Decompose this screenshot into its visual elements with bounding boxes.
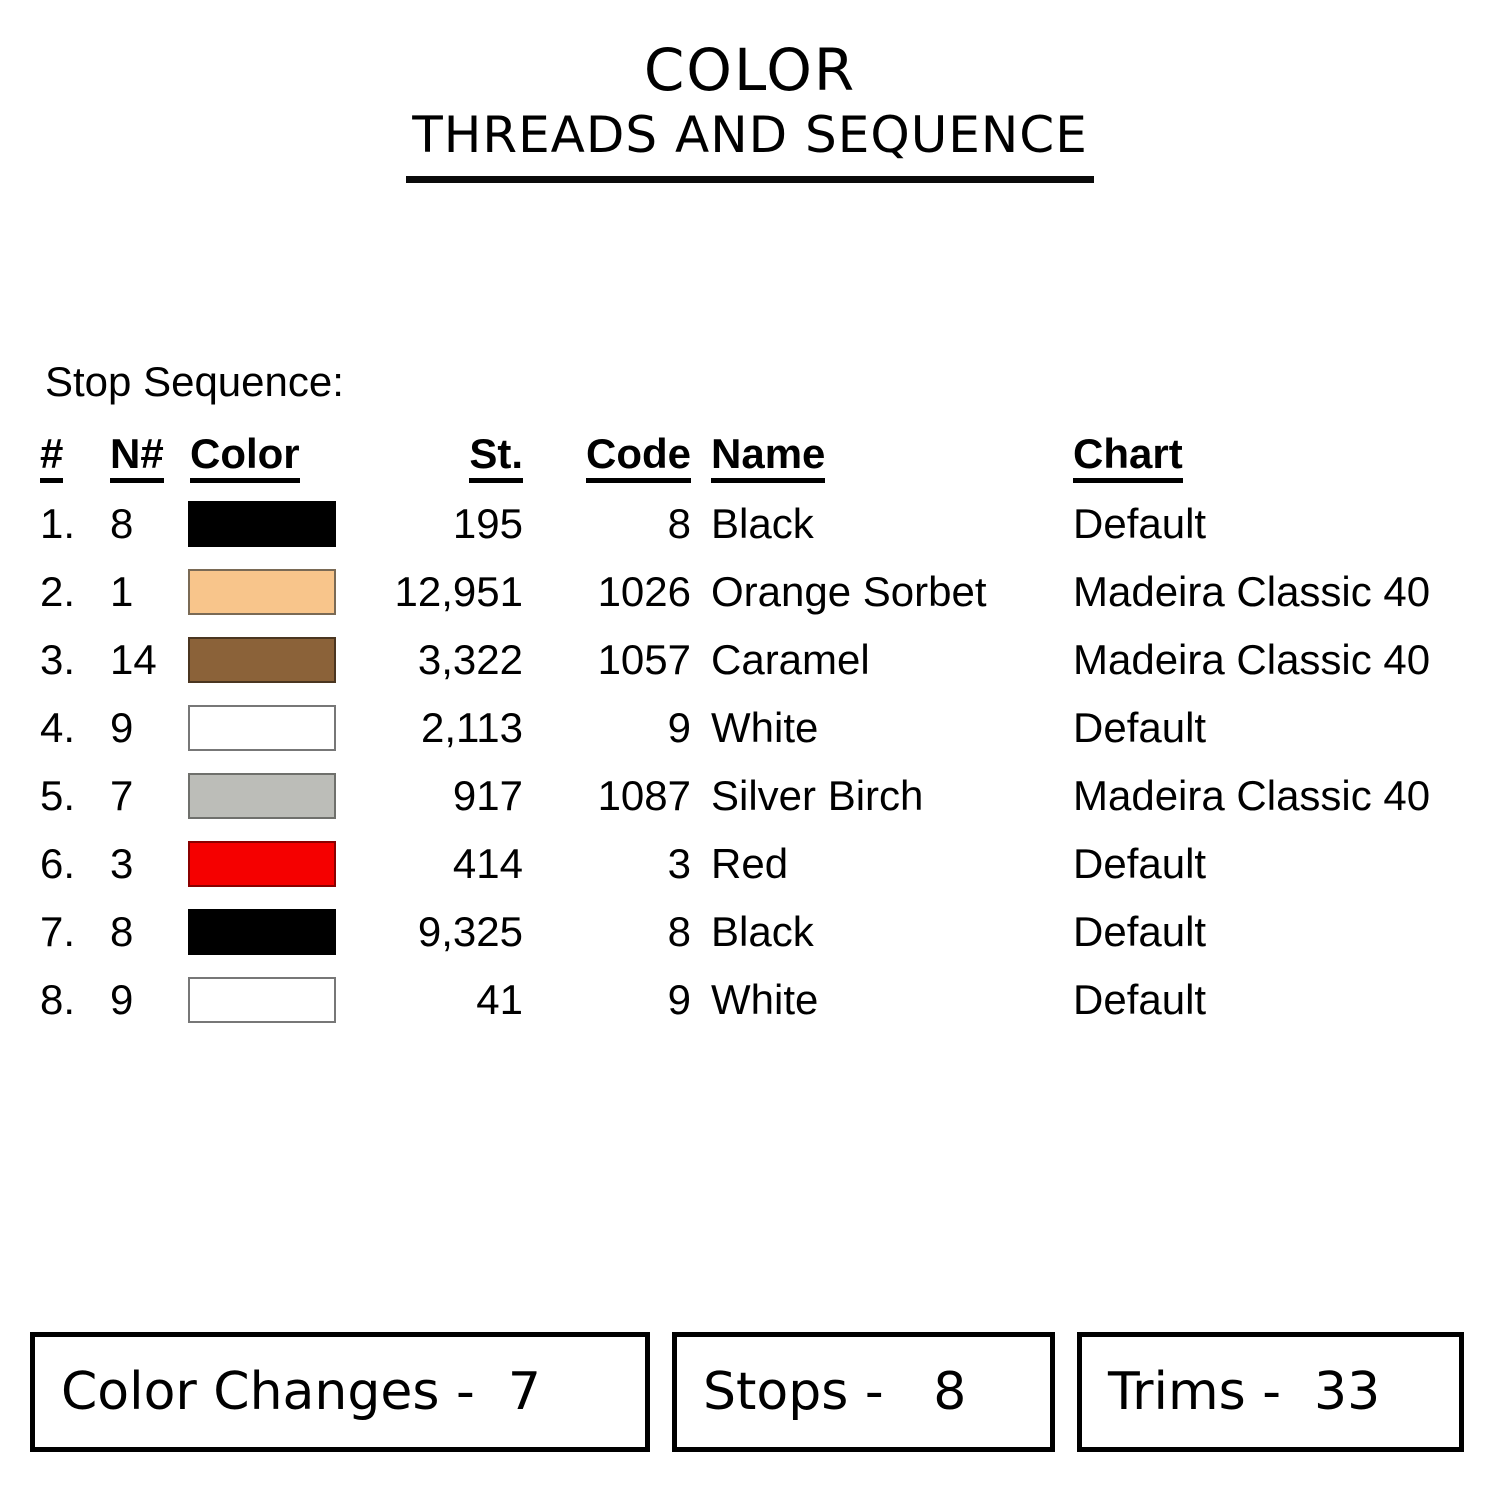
row-chart: Default	[1061, 694, 1430, 762]
page-subtitle: THREADS AND SEQUENCE	[406, 106, 1094, 164]
row-chart: Default	[1061, 490, 1430, 558]
summary-trims-text: Trims - 33	[1108, 1364, 1380, 1420]
table-row: 2.112,9511026Orange SorbetMadeira Classi…	[40, 558, 1430, 626]
table-row: 5.79171087Silver BirchMadeira Classic 40	[40, 762, 1430, 830]
row-index: 6.	[40, 830, 108, 898]
column-header-color: Color	[188, 428, 348, 490]
row-index: 5.	[40, 762, 108, 830]
row-code: 1087	[531, 762, 699, 830]
row-name: Orange Sorbet	[699, 558, 1061, 626]
summary-stops-text: Stops - 8	[703, 1364, 966, 1420]
row-needle: 14	[108, 626, 188, 694]
row-code: 8	[531, 490, 699, 558]
summary-trims-box: Trims - 33	[1077, 1332, 1464, 1452]
row-chart: Default	[1061, 830, 1430, 898]
row-name: Silver Birch	[699, 762, 1061, 830]
summary-row: Color Changes - 7 Stops - 8 Trims - 33	[30, 1332, 1470, 1452]
row-stitches: 414	[348, 830, 531, 898]
column-header-index: #	[40, 428, 108, 490]
column-header-code: Code	[531, 428, 699, 490]
row-needle: 7	[108, 762, 188, 830]
column-header-name: Name	[699, 428, 1061, 490]
table-row: 4.92,1139WhiteDefault	[40, 694, 1430, 762]
row-code: 1057	[531, 626, 699, 694]
page-subtitle-underline: THREADS AND SEQUENCE	[406, 106, 1094, 183]
row-color-swatch-cell	[188, 558, 348, 626]
row-name: Black	[699, 490, 1061, 558]
row-chart: Madeira Classic 40	[1061, 626, 1430, 694]
row-index: 2.	[40, 558, 108, 626]
row-needle: 9	[108, 694, 188, 762]
row-color-swatch-cell	[188, 694, 348, 762]
table-row: 1.81958BlackDefault	[40, 490, 1430, 558]
document-title-block: COLOR THREADS AND SEQUENCE	[0, 38, 1500, 183]
row-name: Black	[699, 898, 1061, 966]
row-stitches: 12,951	[348, 558, 531, 626]
row-color-swatch-cell	[188, 762, 348, 830]
row-name: White	[699, 966, 1061, 1034]
row-color-swatch-cell	[188, 626, 348, 694]
table-body: 1.81958BlackDefault2.112,9511026Orange S…	[40, 490, 1430, 1034]
color-swatch	[188, 501, 336, 547]
color-swatch	[188, 909, 336, 955]
table-header-row: # N# Color St. Code Name Chart	[40, 428, 1430, 490]
color-swatch	[188, 569, 336, 615]
row-color-swatch-cell	[188, 966, 348, 1034]
row-stitches: 2,113	[348, 694, 531, 762]
stop-sequence-label: Stop Sequence:	[45, 358, 344, 406]
column-header-stitches: St.	[348, 428, 531, 490]
row-color-swatch-cell	[188, 898, 348, 966]
page-title: COLOR	[0, 38, 1500, 102]
color-swatch	[188, 773, 336, 819]
summary-stops-box: Stops - 8	[672, 1332, 1055, 1452]
row-chart: Default	[1061, 898, 1430, 966]
row-code: 9	[531, 694, 699, 762]
row-chart: Madeira Classic 40	[1061, 558, 1430, 626]
row-name: Caramel	[699, 626, 1061, 694]
thread-sequence-table: # N# Color St. Code Name Chart 1.81958Bl…	[40, 428, 1430, 1034]
column-header-chart: Chart	[1061, 428, 1430, 490]
color-swatch	[188, 841, 336, 887]
row-chart: Madeira Classic 40	[1061, 762, 1430, 830]
summary-color-changes-text: Color Changes - 7	[61, 1364, 541, 1420]
row-color-swatch-cell	[188, 490, 348, 558]
row-code: 8	[531, 898, 699, 966]
row-index: 4.	[40, 694, 108, 762]
table-row: 6.34143RedDefault	[40, 830, 1430, 898]
column-header-needle: N#	[108, 428, 188, 490]
row-code: 1026	[531, 558, 699, 626]
row-name: White	[699, 694, 1061, 762]
row-needle: 1	[108, 558, 188, 626]
row-code: 3	[531, 830, 699, 898]
color-swatch	[188, 977, 336, 1023]
table-header: # N# Color St. Code Name Chart	[40, 428, 1430, 490]
row-stitches: 917	[348, 762, 531, 830]
color-swatch	[188, 705, 336, 751]
table-row: 7.89,3258BlackDefault	[40, 898, 1430, 966]
row-index: 7.	[40, 898, 108, 966]
row-chart: Default	[1061, 966, 1430, 1034]
row-stitches: 195	[348, 490, 531, 558]
row-color-swatch-cell	[188, 830, 348, 898]
row-needle: 3	[108, 830, 188, 898]
color-swatch	[188, 637, 336, 683]
table-row: 8.9419WhiteDefault	[40, 966, 1430, 1034]
row-name: Red	[699, 830, 1061, 898]
row-index: 1.	[40, 490, 108, 558]
row-code: 9	[531, 966, 699, 1034]
row-needle: 8	[108, 898, 188, 966]
row-index: 8.	[40, 966, 108, 1034]
row-stitches: 9,325	[348, 898, 531, 966]
row-stitches: 3,322	[348, 626, 531, 694]
summary-color-changes-box: Color Changes - 7	[30, 1332, 650, 1452]
table-row: 3.143,3221057CaramelMadeira Classic 40	[40, 626, 1430, 694]
row-index: 3.	[40, 626, 108, 694]
row-needle: 9	[108, 966, 188, 1034]
row-needle: 8	[108, 490, 188, 558]
row-stitches: 41	[348, 966, 531, 1034]
